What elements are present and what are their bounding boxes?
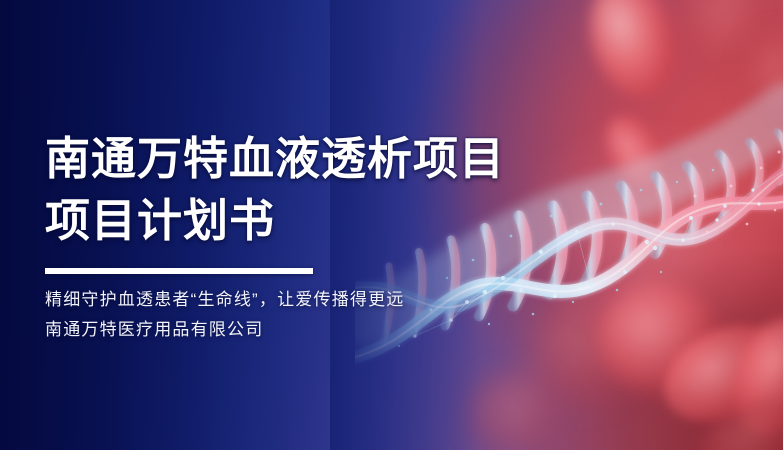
subtitle-company-name: 南通万特医疗用品有限公司 — [45, 315, 565, 345]
page-title-line-1: 南通万特血液透析项目 — [45, 128, 565, 190]
page-title-line-2: 项目计划书 — [45, 190, 565, 252]
presentation-cover-slide: 南通万特血液透析项目 项目计划书 精细守护血透患者“生命线”，让爱传播得更远 南… — [0, 0, 783, 450]
title-divider-bar — [45, 268, 313, 274]
cover-text-block: 南通万特血液透析项目 项目计划书 精细守护血透患者“生命线”，让爱传播得更远 南… — [45, 128, 565, 345]
subtitle-tagline: 精细守护血透患者“生命线”，让爱传播得更远 — [45, 285, 565, 315]
